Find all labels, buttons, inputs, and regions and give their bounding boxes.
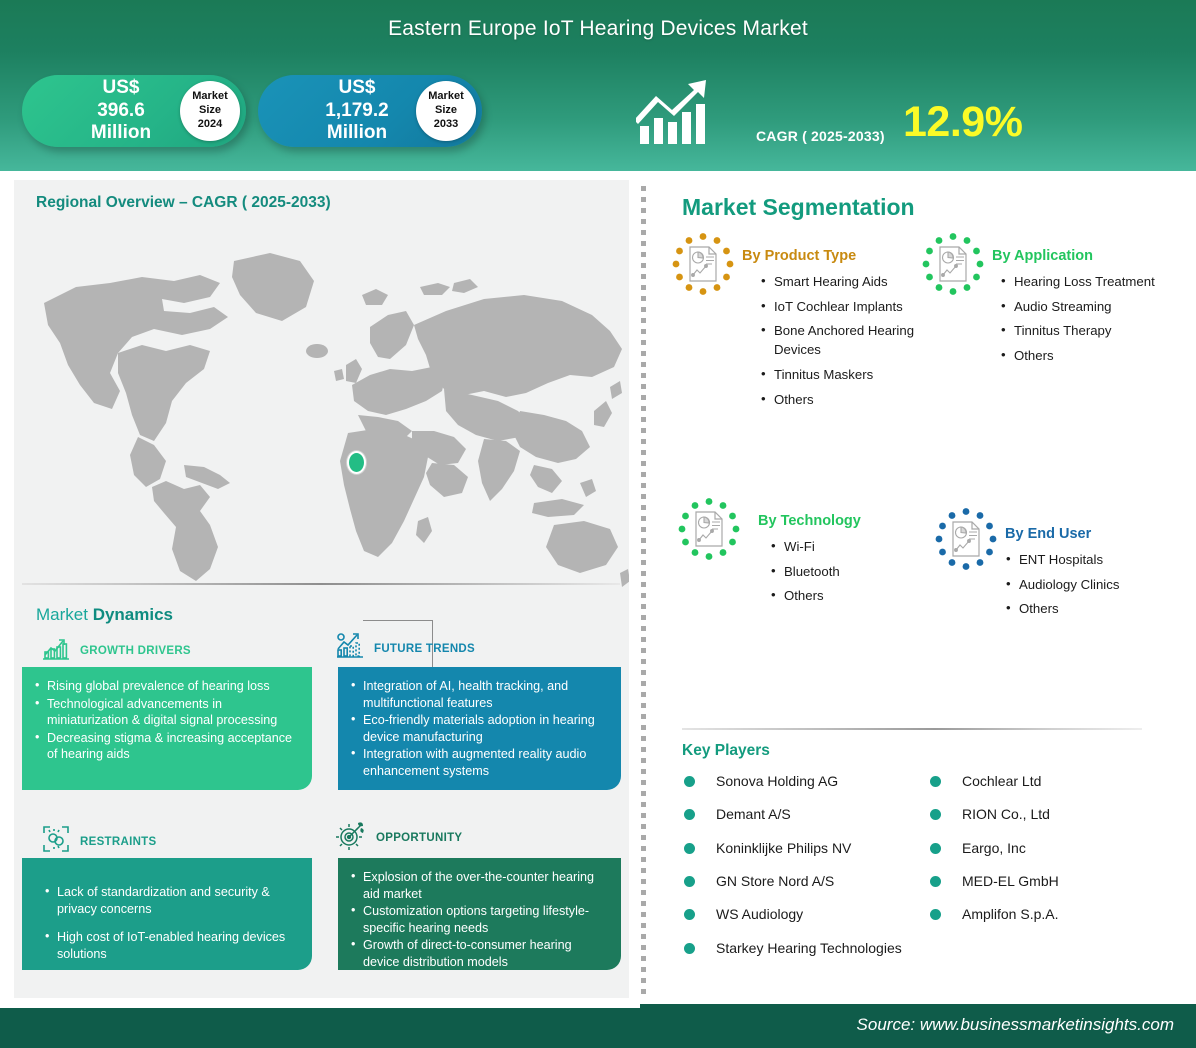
- badge-line-1: Market: [428, 90, 463, 104]
- page-title: Eastern Europe IoT Hearing Devices Marke…: [0, 17, 1196, 41]
- list-item: Demant A/S: [682, 805, 932, 824]
- opportunity-target-gear-icon: [336, 820, 366, 855]
- growth-drivers-box: Rising global prevalence of hearing loss…: [22, 667, 312, 790]
- key-players-title: Key Players: [682, 742, 770, 760]
- key-players-divider: [682, 728, 1142, 730]
- list-item: Integration of AI, health tracking, and …: [350, 678, 611, 711]
- badge-line-3: 2024: [198, 118, 222, 132]
- list-item: ENT Hospitals: [1005, 551, 1195, 570]
- market-size-2024-number: 396.6: [97, 100, 145, 121]
- infographic-page: Eastern Europe IoT Hearing Devices Marke…: [0, 0, 1196, 1048]
- list-item: Sonova Holding AG: [682, 772, 932, 791]
- left-panel: Regional Overview – CAGR ( 2025-2033): [14, 180, 629, 998]
- market-segmentation-title: Market Segmentation: [682, 194, 915, 221]
- list-item: Eargo, Inc: [928, 839, 1178, 858]
- restraints-box: Lack of standardization and security & p…: [22, 858, 312, 970]
- list-item: Technological advancements in miniaturiz…: [34, 696, 302, 729]
- list-item: IoT Cochlear Implants: [760, 298, 930, 317]
- list-item: Amplifon S.p.A.: [928, 905, 1178, 924]
- list-item: Bone Anchored Hearing Devices: [760, 322, 930, 359]
- segment-items: ENT Hospitals Audiology Clinics Others: [1005, 551, 1195, 625]
- market-dynamics-title: Market Dynamics: [36, 605, 173, 625]
- market-size-2024-pill: US$ 396.6 Million Market Size 2024: [22, 75, 246, 147]
- list-item: Eco-friendly materials adoption in heari…: [350, 712, 611, 745]
- segment-heading: By Product Type: [742, 248, 856, 264]
- market-size-2033-currency: US$: [339, 77, 376, 98]
- opportunity-box: Explosion of the over-the-counter hearin…: [338, 858, 621, 970]
- market-size-2033-value: US$ 1,179.2 Million: [258, 77, 408, 144]
- list-item: Rising global prevalence of hearing loss: [34, 678, 302, 695]
- right-panel: Market Segmentation: [660, 180, 1196, 998]
- growth-drivers-list: Rising global prevalence of hearing loss…: [34, 678, 302, 763]
- footer-bar: Source: www.businessmarketinsights.com: [0, 1004, 1196, 1048]
- badge-line-1: Market: [192, 90, 227, 104]
- segment-heading: By Application: [992, 248, 1093, 264]
- badge-line-3: 2033: [434, 118, 458, 132]
- list-item: Growth of direct-to-consumer hearing dev…: [350, 937, 611, 970]
- restraints-list: Lack of standardization and security & p…: [44, 884, 302, 962]
- growth-drivers-label: GROWTH DRIVERS: [80, 645, 191, 657]
- callout-connector-horizontal: [363, 620, 433, 621]
- growth-chart-arrow-icon: [636, 78, 728, 146]
- footer-notch: [0, 1004, 640, 1008]
- market-size-2033-pill: US$ 1,179.2 Million Market Size 2033: [258, 75, 482, 147]
- list-item: Hearing Loss Treatment: [1000, 273, 1180, 292]
- list-item: Explosion of the over-the-counter hearin…: [350, 869, 611, 902]
- market-size-2033-unit: Million: [327, 122, 387, 143]
- growth-chart-icon: [42, 635, 70, 666]
- list-item: Decreasing stigma & increasing acceptanc…: [34, 730, 302, 763]
- market-dynamics-title-light: Market: [36, 605, 93, 624]
- restraints-header: RESTRAINTS: [42, 825, 156, 858]
- list-item: Cochlear Ltd: [928, 772, 1178, 791]
- future-trends-box: Integration of AI, health tracking, and …: [338, 667, 621, 790]
- vertical-dotted-divider: [641, 186, 646, 996]
- list-item: Audio Streaming: [1000, 298, 1180, 317]
- list-item: Bluetooth: [770, 563, 930, 582]
- list-item: Others: [1005, 600, 1195, 619]
- cagr-value: 12.9%: [903, 98, 1022, 147]
- list-item: Lack of standardization and security & p…: [44, 884, 302, 917]
- list-item: Smart Hearing Aids: [760, 273, 930, 292]
- key-players-column-2: Cochlear Ltd RION Co., Ltd Eargo, Inc ME…: [928, 772, 1178, 939]
- world-map: [14, 225, 629, 600]
- map-marker-eastern-europe: [347, 451, 366, 474]
- market-size-2024-currency: US$: [103, 77, 140, 98]
- list-item: Tinnitus Maskers: [760, 366, 930, 385]
- list-item: High cost of IoT-enabled hearing devices…: [44, 929, 302, 962]
- source-text: Source: www.businessmarketinsights.com: [857, 1015, 1174, 1035]
- cagr-label: CAGR ( 2025-2033): [756, 128, 885, 144]
- list-item: Others: [760, 391, 930, 410]
- segment-items: Smart Hearing Aids IoT Cochlear Implants…: [760, 273, 930, 415]
- future-trends-list: Integration of AI, health tracking, and …: [350, 678, 611, 780]
- key-players-column-1: Sonova Holding AG Demant A/S Koninklijke…: [682, 772, 932, 972]
- list-item: GN Store Nord A/S: [682, 872, 932, 891]
- report-document-icon: [935, 508, 997, 570]
- segment-heading: By End User: [1005, 526, 1091, 542]
- dynamics-divider: [22, 583, 620, 585]
- list-item: MED-EL GmbH: [928, 872, 1178, 891]
- restraints-label: RESTRAINTS: [80, 836, 156, 848]
- badge-line-2: Size: [435, 104, 457, 118]
- restraints-link-scan-icon: [42, 825, 70, 858]
- segment-items: Hearing Loss Treatment Audio Streaming T…: [1000, 273, 1180, 372]
- future-trends-chart-icon: [336, 632, 364, 665]
- market-size-2033-number: 1,179.2: [325, 100, 388, 121]
- report-document-icon: [678, 498, 740, 560]
- segment-heading: By Technology: [758, 513, 861, 529]
- opportunity-header: OPPORTUNITY: [336, 820, 462, 855]
- list-item: Wi-Fi: [770, 538, 930, 557]
- opportunity-list: Explosion of the over-the-counter hearin…: [350, 869, 611, 971]
- list-item: Tinnitus Therapy: [1000, 322, 1180, 341]
- list-item: Koninklijke Philips NV: [682, 839, 932, 858]
- market-size-2033-badge: Market Size 2033: [416, 81, 476, 141]
- list-item: WS Audiology: [682, 905, 932, 924]
- market-dynamics-title-bold: Dynamics: [93, 605, 173, 624]
- report-document-icon: [672, 233, 734, 295]
- badge-line-2: Size: [199, 104, 221, 118]
- opportunity-label: OPPORTUNITY: [376, 832, 462, 844]
- header-banner: Eastern Europe IoT Hearing Devices Marke…: [0, 0, 1196, 171]
- segment-items: Wi-Fi Bluetooth Others: [770, 538, 930, 612]
- list-item: Others: [1000, 347, 1180, 366]
- market-size-2024-unit: Million: [91, 122, 151, 143]
- list-item: Customization options targeting lifestyl…: [350, 903, 611, 936]
- regional-overview-title: Regional Overview – CAGR ( 2025-2033): [36, 194, 331, 212]
- list-item: Audiology Clinics: [1005, 576, 1195, 595]
- future-trends-label: FUTURE TRENDS: [374, 643, 475, 655]
- market-size-2024-badge: Market Size 2024: [180, 81, 240, 141]
- list-item: Starkey Hearing Technologies: [682, 939, 932, 958]
- market-size-2024-value: US$ 396.6 Million: [22, 77, 172, 144]
- future-trends-header: FUTURE TRENDS: [336, 632, 475, 665]
- list-item: RION Co., Ltd: [928, 805, 1178, 824]
- report-document-icon: [922, 233, 984, 295]
- list-item: Others: [770, 587, 930, 606]
- growth-drivers-header: GROWTH DRIVERS: [42, 635, 191, 666]
- list-item: Integration with augmented reality audio…: [350, 746, 611, 779]
